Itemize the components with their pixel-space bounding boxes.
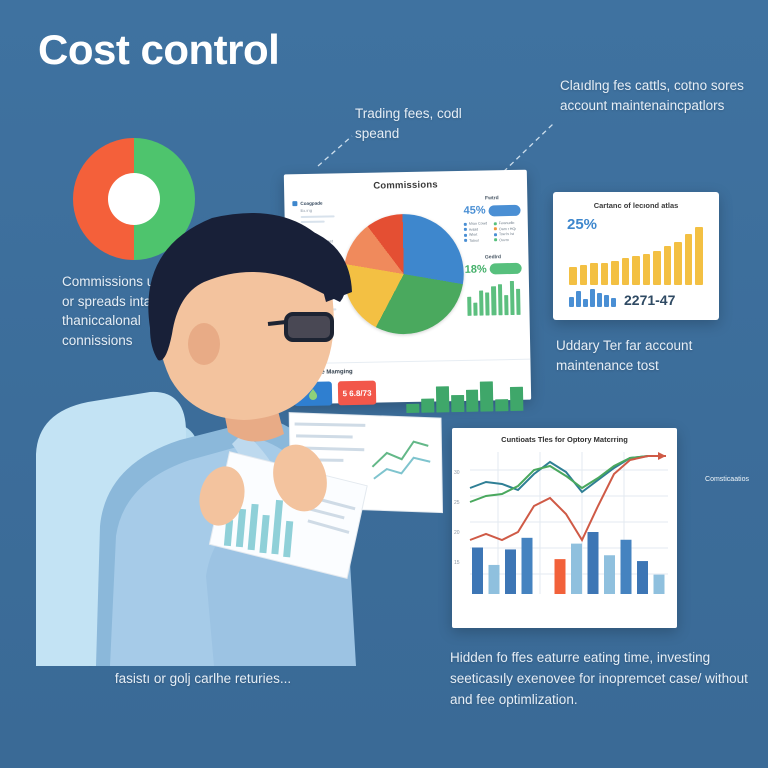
bar (601, 263, 609, 285)
mini-legend-label: Ouvro (499, 238, 509, 242)
mini-legend-item: Fwanudlo (494, 221, 521, 226)
footer-bar (597, 293, 602, 307)
bar (643, 254, 651, 285)
mini-legend-swatch (494, 227, 497, 230)
footer-bar (583, 299, 588, 307)
mini-legend-swatch (494, 238, 497, 241)
footer-bar (611, 298, 616, 307)
bottom-chart-bar (604, 555, 615, 594)
mini-panel-pill-button[interactable] (488, 204, 520, 216)
mini-legend-label: Mrao Cowd (469, 221, 487, 225)
bottom-bar-chart (472, 532, 665, 594)
mini-panel-gedlrd: Gedlrd 18% (464, 253, 522, 315)
bar (664, 246, 672, 285)
side-card-bar-chart (553, 227, 719, 285)
side-card-footer: 2271-47 (553, 285, 719, 307)
mini-legend-label: Tow hı lst (499, 232, 514, 236)
mini-panel-row-2: 18% (465, 262, 522, 275)
footer-bar (576, 291, 581, 307)
footer-bar (604, 295, 609, 307)
annotation-bottom-right: Hidden fo ffes eaturre eating time, inve… (450, 648, 750, 711)
side-card-title: Cartanc of lecıond atlas (553, 192, 719, 210)
bar (473, 302, 477, 315)
bar (498, 284, 503, 315)
mini-bar-chart (465, 280, 523, 315)
bar (479, 290, 484, 315)
bar (495, 399, 508, 411)
mini-legend-label: Oam r HQı (499, 226, 516, 230)
footer-bar (569, 297, 574, 307)
bottom-chart-series-label: Comsticaatios (705, 476, 749, 483)
mini-panel-title: Fwtrd (463, 195, 520, 202)
ear (188, 323, 220, 365)
mini-legend-swatch (494, 233, 497, 236)
bar (504, 295, 508, 315)
side-card-value: 2271-47 (624, 293, 675, 307)
bar (622, 258, 630, 285)
bottom-chart-bar (637, 561, 648, 594)
person-illustration (0, 196, 470, 666)
mini-panel-row: 45% (463, 204, 520, 217)
mini-legend-swatch (494, 222, 497, 225)
bar (685, 234, 693, 285)
bar (569, 267, 577, 285)
bottom-chart-bar (588, 532, 599, 594)
annotation-maintenance-cost: Uddary Ter far account maintenance tost (556, 336, 756, 375)
bar (516, 289, 521, 315)
bar (510, 280, 515, 314)
mini-panel-legend: Mrao CowdFwanudloAnbldOam r HQıWlortTow … (464, 221, 521, 243)
optory-matching-chart-panel[interactable]: Cuntioats Tles for Optory Matcrring (452, 428, 677, 628)
mini-legend-label: Wlort (469, 233, 477, 237)
bar (480, 381, 493, 411)
mini-legend-label: Fwanudlo (499, 221, 515, 225)
bottom-chart-bar (522, 538, 533, 594)
bar (695, 227, 703, 285)
bottom-chart-bar (489, 565, 500, 594)
footer-bar (590, 289, 595, 307)
bar (674, 242, 682, 286)
bottom-chart-bar (571, 544, 582, 594)
bar (580, 265, 588, 285)
bar (590, 263, 598, 285)
bottom-chart-bar (654, 575, 665, 594)
dashboard-right-column: Fwtrd 45% Mrao CowdFwanudloAnbldOam r HQ… (461, 191, 526, 358)
bar (632, 256, 640, 285)
series-pointer-arrow (658, 452, 666, 460)
mini-legend-item: Ouvro (494, 237, 521, 242)
bar (485, 293, 490, 315)
mini-panel-fwtrd: Fwtrd 45% Mrao CowdFwanudloAnbldOam r HQ… (463, 195, 521, 243)
line-series-green (470, 456, 648, 502)
bar (510, 387, 523, 411)
bar (611, 261, 619, 285)
bottom-chart-bar (621, 540, 632, 594)
bottom-chart-bar (505, 549, 516, 594)
bar (653, 251, 661, 285)
mini-legend-label: Tatoul (469, 238, 479, 242)
mini-legend-label: Anbld (469, 227, 478, 231)
bar (491, 287, 496, 315)
mini-panel-title-2: Gedlrd (464, 253, 521, 260)
annotation-trading-fees: Trading fees, codl speand (355, 104, 505, 143)
side-card-footer-bars (569, 291, 616, 307)
mini-panel-pill-button-2[interactable] (490, 263, 522, 275)
annotation-account-costs: Claıdlng fes cattls, cotno sores account… (560, 76, 760, 115)
bottom-chart-title: Cuntioats Tles for Optory Matcrring (452, 428, 677, 444)
mini-legend-item: Tow hı lst (494, 232, 521, 237)
bottom-chart-svg (452, 444, 677, 624)
bottom-chart-bar (555, 559, 566, 594)
bottom-chart-plot: 30252015 Comsticaatios (452, 444, 677, 624)
bottom-chart-bar (472, 548, 483, 595)
mini-legend-item: Oam r HQı (494, 226, 521, 231)
infographic-canvas: Cost control Commissions uncler feıs or … (0, 0, 768, 768)
account-maintenance-card[interactable]: Cartanc of lecıond atlas 25% 2271-47 (553, 192, 719, 320)
